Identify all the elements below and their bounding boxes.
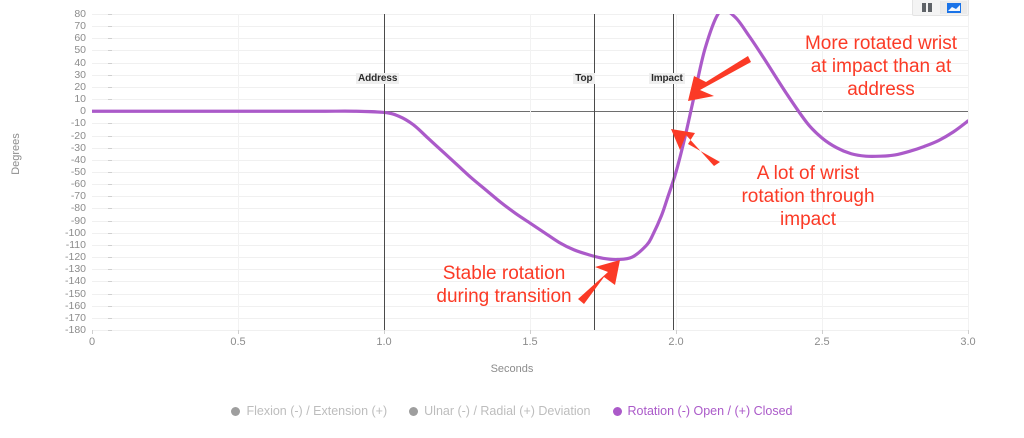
chart-toolbar [912,0,969,16]
y-axis-tick-label: 0 [26,106,86,116]
bar-chart-icon [921,3,934,12]
legend-dot-icon [613,407,622,416]
y-axis-tick-label: -140 [26,276,86,286]
y-axis-tick-label: -70 [26,191,86,201]
annotation-stable-rotation: Stable rotation during transition [404,262,604,308]
x-axis-tick-label: 3.0 [960,336,975,348]
event-line-address [384,14,385,330]
y-axis-tick-label: -90 [26,216,86,226]
legend-label: Flexion (-) / Extension (+) [246,404,387,418]
x-axis-tick-mark [968,330,969,334]
y-axis-tick-label: 20 [26,82,86,92]
event-label-impact: Impact [649,73,685,84]
legend-item-1[interactable]: Ulnar (-) / Radial (+) Deviation [409,404,590,418]
y-axis-tick-label: -80 [26,203,86,213]
legend-label: Ulnar (-) / Radial (+) Deviation [424,404,590,418]
y-axis-tick-label: 10 [26,94,86,104]
y-axis-tick-mark [108,330,112,331]
legend-dot-icon [409,407,418,416]
x-axis-tick-mark [384,330,385,334]
area-chart-icon [947,3,961,13]
event-label-top: Top [573,73,594,84]
y-axis-tick-label: -50 [26,167,86,177]
x-axis-tick-label: 0.5 [230,336,245,348]
legend-label: Rotation (-) Open / (+) Closed [628,404,793,418]
y-axis-tick-label: 40 [26,58,86,68]
event-label-address: Address [356,73,399,84]
x-axis-tick-mark [822,330,823,334]
event-line-impact [673,14,674,330]
chart-legend: Flexion (-) / Extension (+)Ulnar (-) / R… [0,404,1024,418]
y-axis-tick-label: -180 [26,325,86,335]
annotation-more-rotated-wrist: More rotated wrist at impact than at add… [752,32,1010,101]
y-axis-tick-label: -20 [26,131,86,141]
y-axis-tick-label: -10 [26,118,86,128]
y-axis-tick-label: 70 [26,21,86,31]
y-axis-tick-label: -60 [26,179,86,189]
chart-page: AddressTopImpact 80706050403020100-10-20… [0,0,1024,438]
y-axis-tick-label: -150 [26,289,86,299]
legend-item-0[interactable]: Flexion (-) / Extension (+) [231,404,387,418]
x-axis-tick-mark [92,330,93,334]
chart-area: AddressTopImpact 80706050403020100-10-20… [0,0,1024,398]
x-axis-tick-mark [238,330,239,334]
legend-dot-icon [231,407,240,416]
y-axis-tick-label: 60 [26,33,86,43]
bar-chart-toggle[interactable] [914,1,941,14]
x-axis-tick-mark [530,330,531,334]
area-chart-toggle[interactable] [941,1,967,14]
x-axis-tick-label: 2.5 [814,336,829,348]
y-axis-tick-label: -110 [26,240,86,250]
y-axis-tick-label: -30 [26,143,86,153]
y-axis-ticks: 80706050403020100-10-20-30-40-50-60-70-8… [20,0,86,398]
y-axis-tick-label: 80 [26,9,86,19]
y-axis-title: Degrees [10,114,22,194]
y-axis-tick-label: 30 [26,70,86,80]
legend-item-2[interactable]: Rotation (-) Open / (+) Closed [613,404,793,418]
x-axis-tick-label: 2.0 [668,336,683,348]
x-axis-tick-label: 1.5 [522,336,537,348]
y-axis-tick-label: -160 [26,301,86,311]
x-axis-tick-label: 0 [89,336,95,348]
y-axis-tick-label: 50 [26,45,86,55]
y-axis-tick-label: -120 [26,252,86,262]
y-axis-tick-label: -130 [26,264,86,274]
y-axis-tick-label: -170 [26,313,86,323]
x-axis-tick-mark [676,330,677,334]
annotation-a-lot-of-wrist-rotation: A lot of wrist rotation through impact [692,162,924,231]
y-axis-tick-label: -100 [26,228,86,238]
x-axis-title: Seconds [0,363,1024,375]
y-axis-tick-label: -40 [26,155,86,165]
x-axis-tick-label: 1.0 [376,336,391,348]
